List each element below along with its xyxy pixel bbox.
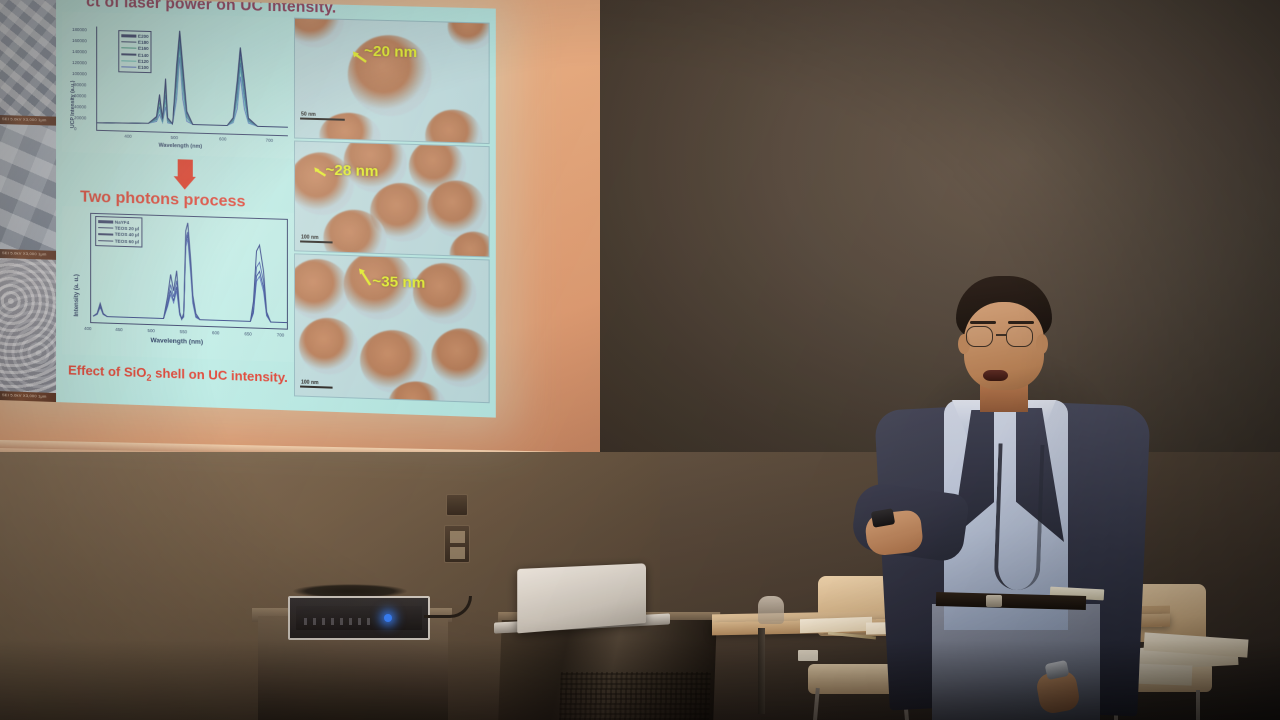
upper-xtick-500: 500	[171, 135, 178, 140]
upper-ytick-180000: 180000	[72, 26, 87, 31]
upper-chart: UCP Intensity (a.u.) 0 20000 40000 60000…	[62, 12, 296, 159]
tem-scalebar-35nm: 100 nm	[300, 375, 332, 388]
eyeglasses-lens-right	[1006, 326, 1033, 347]
laptop[interactable]	[517, 563, 646, 633]
lower-chart-legend: NaYF4 TEOS 20 µl TEOS 40 µl TEOS 60 µl	[95, 216, 142, 247]
lower-xtick-650: 650	[244, 331, 251, 336]
legend-item-e100: E100	[121, 64, 148, 71]
eyebrow-right	[1008, 321, 1034, 324]
lecture-room-scene: SEI 5.0kV X3,000 1μm SEI 5.0kV X3,000 1μ…	[0, 0, 1280, 720]
lower-xtick-550: 550	[180, 329, 187, 334]
sem-panel-top: SEI 5.0kV X3,000 1μm	[0, 0, 56, 126]
legend-label-e120: E120	[138, 59, 149, 64]
sem-image-strip: SEI 5.0kV X3,000 1μm SEI 5.0kV X3,000 1μ…	[0, 0, 56, 402]
belt-buckle	[986, 595, 1002, 607]
upper-xtick-600: 600	[219, 136, 226, 141]
lower-xtick-450: 450	[115, 327, 122, 332]
legend-item-teos60: TEOS 60 µl	[98, 237, 139, 244]
upper-xtick-400: 400	[124, 134, 131, 139]
tem-scalebar-28nm: 100 nm	[300, 230, 332, 243]
tem-scalebar-20nm: 50 nm	[300, 107, 345, 120]
lower-xtick-700: 700	[277, 332, 284, 337]
upper-ytick-0: 0	[74, 126, 76, 131]
av-rack-unit[interactable]	[288, 596, 430, 640]
upper-xtick-700: 700	[266, 138, 273, 143]
av-rack-controls[interactable]	[304, 618, 376, 625]
legend-swatch-teos40	[98, 233, 113, 235]
upper-chart-legend: E200 E180 E160 E140 E120	[118, 30, 151, 73]
eyeglasses-bridge	[996, 334, 1006, 336]
floor-shadow	[0, 640, 1280, 720]
legend-label-e200: E200	[138, 34, 149, 39]
caption-text-post: shell on UC intensity.	[152, 365, 288, 385]
legend-swatch-e200	[121, 34, 136, 37]
upper-ytick-40000: 40000	[74, 104, 86, 109]
legend-swatch-teos20	[98, 227, 113, 228]
tem-label-20nm: ~20 nm	[364, 43, 417, 62]
legend-swatch-e180	[121, 42, 136, 43]
sem-scalebar-bottom: SEI 5.0kV X3,000 1μm	[2, 392, 47, 399]
legend-swatch-e160	[121, 48, 136, 49]
lower-xtick-400: 400	[84, 326, 91, 331]
lower-xtick-500: 500	[147, 328, 154, 333]
upper-ytick-100000: 100000	[72, 71, 87, 76]
legend-label-nayf4: NaYF4	[115, 220, 129, 225]
sem-scalebar-middle: SEI 5.0kV X3,000 1μm	[2, 250, 47, 256]
sio2-shell-caption: Effect of SiO2 shell on UC intensity.	[68, 362, 288, 387]
upper-ytick-160000: 160000	[72, 37, 87, 42]
legend-label-teos40: TEOS 40 µl	[115, 232, 139, 238]
tem-panel-28nm: ~28 nm 100 nm	[294, 141, 490, 258]
presentation-slide: SEI 5.0kV X3,000 1μm SEI 5.0kV X3,000 1μ…	[0, 0, 496, 418]
tem-label-35nm: ~35 nm	[372, 273, 425, 292]
sem-panel-bottom: SEI 5.0kV X3,000 1μm	[0, 258, 56, 402]
legend-swatch-teos60	[98, 240, 113, 241]
legend-label-teos60: TEOS 60 µl	[115, 238, 139, 244]
ear-right	[1036, 334, 1048, 354]
lower-chart-xlabel: Wavelength (nm)	[150, 337, 203, 346]
legend-label-e160: E160	[138, 46, 149, 51]
legend-label-e100: E100	[138, 65, 149, 70]
lower-chart: Intensity (a. u.) 400 450 500 550 600 6	[62, 206, 296, 362]
lanyard	[993, 443, 1044, 591]
upper-ytick-60000: 60000	[74, 93, 86, 98]
lower-chart-ylabel: Intensity (a. u.)	[74, 274, 80, 317]
upper-chart-xlabel: Wavelength (nm)	[159, 143, 203, 150]
upper-ytick-120000: 120000	[72, 59, 87, 64]
eyeglasses-lens-left	[966, 326, 993, 347]
eyebrow-left	[970, 321, 996, 324]
tem-panel-20nm: ~20 nm 50 nm	[294, 18, 490, 144]
legend-label-e180: E180	[138, 40, 149, 45]
tem-label-28nm: ~28 nm	[325, 162, 378, 181]
mouth	[983, 370, 1008, 381]
legend-label-teos20: TEOS 20 µl	[115, 226, 139, 232]
tem-scalebar-text-20nm: 50 nm	[301, 111, 316, 117]
drinking-glass[interactable]	[758, 596, 784, 624]
sem-panel-middle: SEI 5.0kV X3,000 1μm	[0, 124, 56, 260]
lower-xtick-600: 600	[212, 330, 219, 335]
legend-label-e140: E140	[138, 52, 149, 57]
sem-scalebar-top: SEI 5.0kV X3,000 1μm	[2, 116, 47, 122]
wall-plate-upper[interactable]	[446, 494, 468, 516]
legend-swatch-e100	[121, 66, 136, 67]
legend-swatch-nayf4	[98, 220, 113, 223]
down-arrow-icon	[173, 159, 199, 194]
tem-panel-35nm: ~35 nm 100 nm	[294, 253, 490, 403]
upper-ytick-20000: 20000	[74, 115, 86, 120]
legend-swatch-e140	[121, 53, 136, 55]
caption-text-pre: Effect of SiO	[68, 362, 146, 380]
upper-ytick-80000: 80000	[74, 82, 86, 87]
upper-ytick-140000: 140000	[72, 48, 87, 53]
slide-content: ct of laser power on UC intensity. UCP I…	[56, 0, 496, 418]
wall-plate-lower[interactable]	[444, 525, 470, 563]
tem-scalebar-text-28nm: 100 nm	[301, 234, 318, 241]
legend-swatch-e120	[121, 60, 136, 61]
power-led-icon	[384, 614, 392, 622]
